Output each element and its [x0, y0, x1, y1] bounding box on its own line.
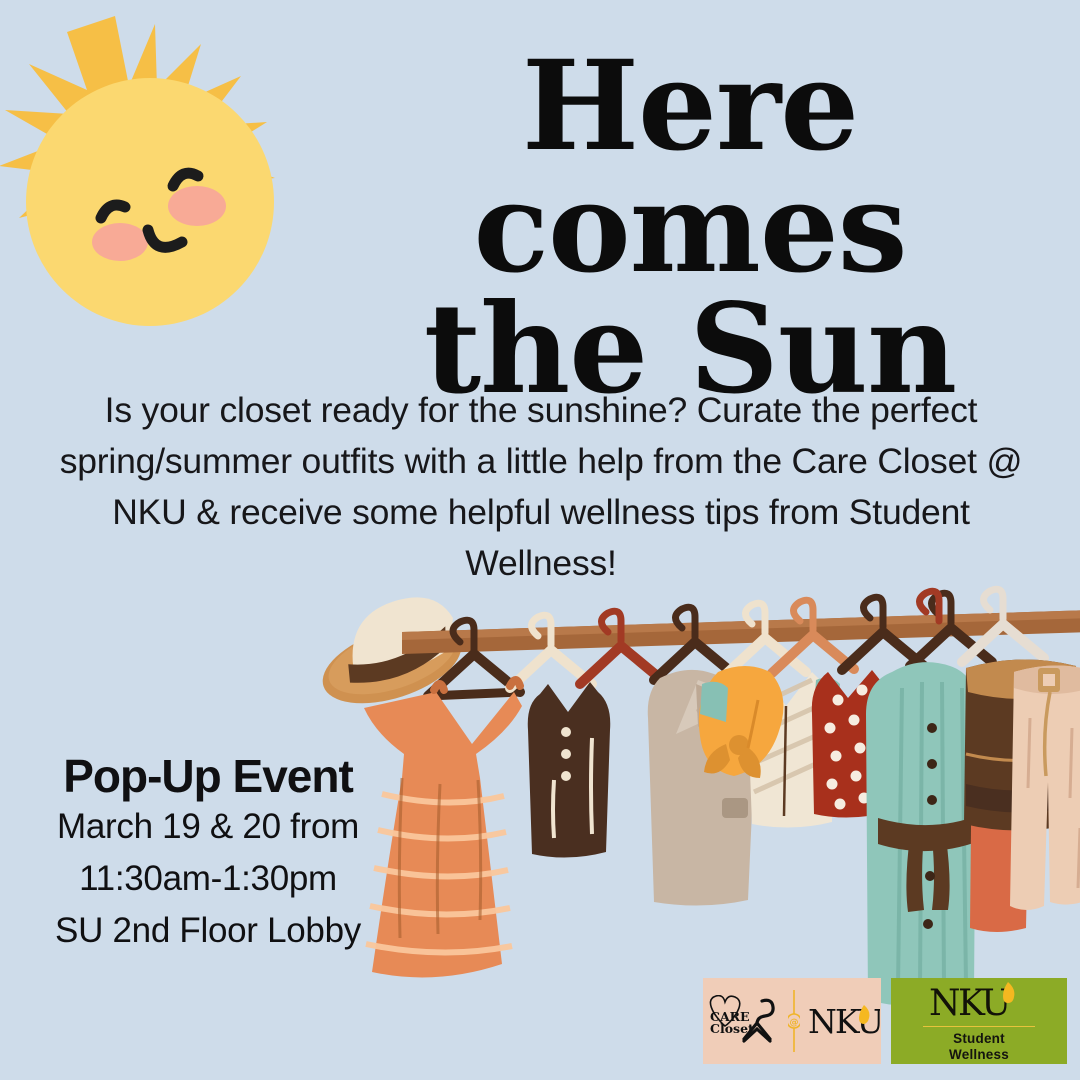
beige-trousers	[1010, 665, 1080, 910]
event-time: 11:30am-1:30pm	[28, 854, 388, 904]
event-details-block: Pop-Up Event March 19 & 20 from 11:30am-…	[28, 752, 388, 955]
at-separator-icon: @	[788, 990, 800, 1052]
sun-cheek-left	[92, 223, 148, 261]
event-date: March 19 & 20 from	[28, 802, 388, 852]
wellness-line-2: Wellness	[949, 1047, 1009, 1063]
nku-wellness-mark: NKU	[927, 979, 1031, 1023]
event-location: SU 2nd Floor Lobby	[28, 906, 388, 956]
sun-cheek-right	[168, 186, 226, 226]
teal-belted-dress	[866, 662, 982, 1006]
event-title: Pop-Up Event	[28, 752, 388, 800]
svg-text:NKU: NKU	[929, 983, 1010, 1023]
wellness-line-1: Student	[949, 1031, 1009, 1047]
poster-canvas: Here comes the Sun Is your closet ready …	[0, 0, 1080, 1080]
poster-body-copy: Is your closet ready for the sunshine? C…	[46, 385, 1036, 589]
sun-face	[26, 78, 274, 326]
nku-logo-mark: NKU	[806, 999, 880, 1043]
svg-text:NKU: NKU	[808, 1002, 880, 1041]
headline-line-1: Here comes	[300, 46, 1080, 289]
brown-vest	[528, 682, 611, 858]
poster-headline: Here comes the Sun	[300, 46, 1080, 411]
care-closet-mark: CARE Closet	[704, 995, 782, 1047]
svg-text:@: @	[790, 1018, 799, 1028]
care-closet-nku-logo: CARE Closet @ NKU	[703, 978, 881, 1064]
clothing-rack-illustration	[330, 588, 1080, 1028]
wellness-divider	[923, 1026, 1035, 1028]
nku-student-wellness-logo: NKU Student Wellness	[891, 978, 1067, 1064]
